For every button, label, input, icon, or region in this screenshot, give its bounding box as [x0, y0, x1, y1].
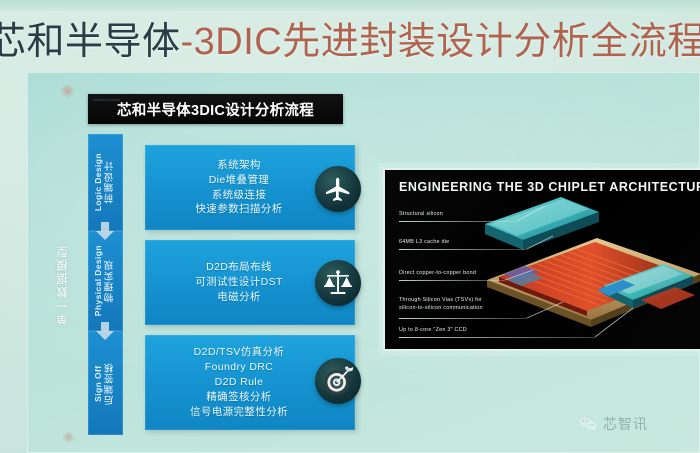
page-title-dash: -	[181, 21, 194, 63]
flowchart-title-tag: Unified Model	[93, 97, 120, 102]
stage-label-en: Sign Off	[93, 362, 104, 405]
unified-data-model-rail: 单一数据模型	[50, 134, 76, 435]
flow-box-line: Foundry DRC	[190, 360, 288, 375]
flow-box-line: D2D布局布线	[195, 260, 283, 275]
flow-box-line: 系统级连接	[195, 188, 282, 203]
flowchart-title-bar: Unified Model 芯和半导体3DIC设计分析流程	[88, 94, 343, 124]
stage-logic-design[interactable]: Logic Design 前端设计	[88, 134, 123, 231]
slide-photo: 芯和半导体-3DIC先进封装设计分析全流程 Unified Model 芯和半导…	[0, 0, 700, 453]
unified-data-model-label: 单一数据模型	[55, 244, 71, 325]
stage-label-cn: 前端设计	[105, 153, 118, 211]
target-icon	[315, 358, 361, 404]
flow-box-line: D2D Rule	[190, 375, 288, 390]
chiplet-architecture-panel: ENGINEERING THE 3D CHIPLET ARCHITECTURE	[385, 170, 700, 349]
page-title-accent: 3DIC先进封装设计分析全流程	[194, 21, 700, 63]
flow-box-line: D2D/TSV仿真分析	[190, 345, 288, 360]
flowchart-title-text: 芯和半导体3DIC设计分析流程	[117, 99, 314, 120]
flow-box-line: 系统架构	[195, 158, 282, 173]
flow-box-line: 精确签核分析	[190, 390, 288, 405]
flow-box-line: 电磁分析	[195, 290, 283, 305]
stage-label-en: Logic Design	[93, 153, 104, 211]
flow-box-line: Die堆叠管理	[195, 173, 282, 188]
stage-label-en: Physical Design	[93, 245, 104, 316]
watermark-text: 芯智讯	[603, 414, 648, 434]
page-title-prefix: 芯和半导体	[0, 21, 181, 63]
slide-corner-logo-icon	[61, 85, 74, 98]
page-title: 芯和半导体-3DIC先进封装设计分析全流程	[0, 16, 688, 68]
stage-physical-design[interactable]: Physical Design 物理实现	[88, 231, 123, 331]
down-arrow-icon	[95, 222, 115, 240]
flow-box-line: 可测试性设计DST	[195, 275, 283, 290]
wechat-icon	[578, 416, 598, 432]
stage-label-cn: 物理实现	[105, 245, 118, 316]
airplane-icon	[315, 166, 361, 212]
flow-box-text: D2D/TSV仿真分析 Foundry DRC D2D Rule 精确签核分析 …	[186, 345, 314, 420]
flow-box-text: D2D布局布线 可测试性设计DST 电磁分析	[191, 260, 309, 305]
flow-box-text: 系统架构 Die堆叠管理 系统级连接 快速参数扫描分析	[191, 158, 308, 218]
down-arrow-icon	[95, 322, 115, 340]
watermark: 芯智讯	[578, 414, 648, 434]
callout-leader-lines	[385, 170, 700, 349]
top-wall-band	[0, 0, 700, 11]
flow-box-line: 快速参数扫描分析	[195, 202, 282, 217]
flow-box-line: 信号电源完整性分析	[190, 405, 288, 420]
stage-sign-off[interactable]: Sign Off 后端签核	[88, 331, 123, 435]
scales-icon	[315, 260, 361, 306]
stage-label-cn: 后端签核	[105, 362, 118, 405]
